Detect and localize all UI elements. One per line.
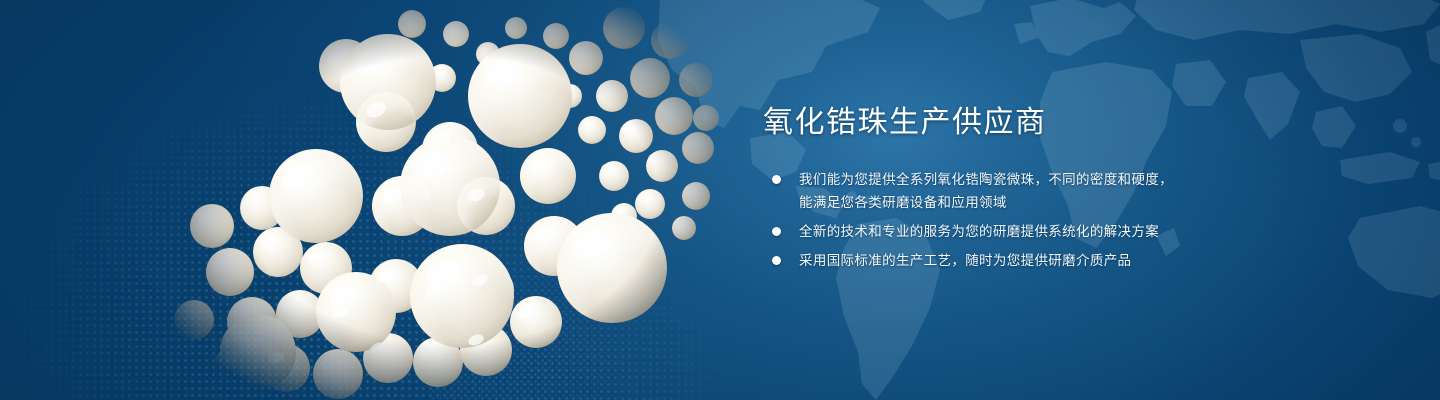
list-item: 我们能为您提供全系列氧化锆陶瓷微珠，不同的密度和硬度， 能满足您各类研磨设备和应…: [763, 168, 1223, 214]
bullet-dot-icon: [772, 227, 781, 236]
bullet-text: 采用国际标准的生产工艺，随时为您提供研磨介质产品: [799, 249, 1131, 272]
banner-text-column: 氧化锆珠生产供应商 我们能为您提供全系列氧化锆陶瓷微珠，不同的密度和硬度， 能满…: [763, 104, 1223, 278]
bullet-dot-icon: [772, 256, 781, 265]
bullet-line: 能满足您各类研磨设备和应用领域: [799, 191, 1173, 214]
bullet-text: 全新的技术和专业的服务为您的研磨提供系统化的解决方案: [799, 220, 1159, 243]
list-item: 全新的技术和专业的服务为您的研磨提供系统化的解决方案: [763, 220, 1223, 243]
page-title: 氧化锆珠生产供应商: [763, 104, 1223, 142]
background-vignette: [0, 0, 1440, 400]
hero-banner: 氧化锆珠生产供应商 我们能为您提供全系列氧化锆陶瓷微珠，不同的密度和硬度， 能满…: [0, 0, 1440, 400]
bullet-dot-icon: [772, 175, 781, 184]
bullet-line: 我们能为您提供全系列氧化锆陶瓷微珠，不同的密度和硬度，: [799, 168, 1173, 191]
bullet-line: 全新的技术和专业的服务为您的研磨提供系统化的解决方案: [799, 220, 1159, 243]
bullet-text: 我们能为您提供全系列氧化锆陶瓷微珠，不同的密度和硬度， 能满足您各类研磨设备和应…: [799, 168, 1173, 214]
list-item: 采用国际标准的生产工艺，随时为您提供研磨介质产品: [763, 249, 1223, 272]
bullet-line: 采用国际标准的生产工艺，随时为您提供研磨介质产品: [799, 249, 1131, 272]
feature-bullet-list: 我们能为您提供全系列氧化锆陶瓷微珠，不同的密度和硬度， 能满足您各类研磨设备和应…: [763, 168, 1223, 272]
